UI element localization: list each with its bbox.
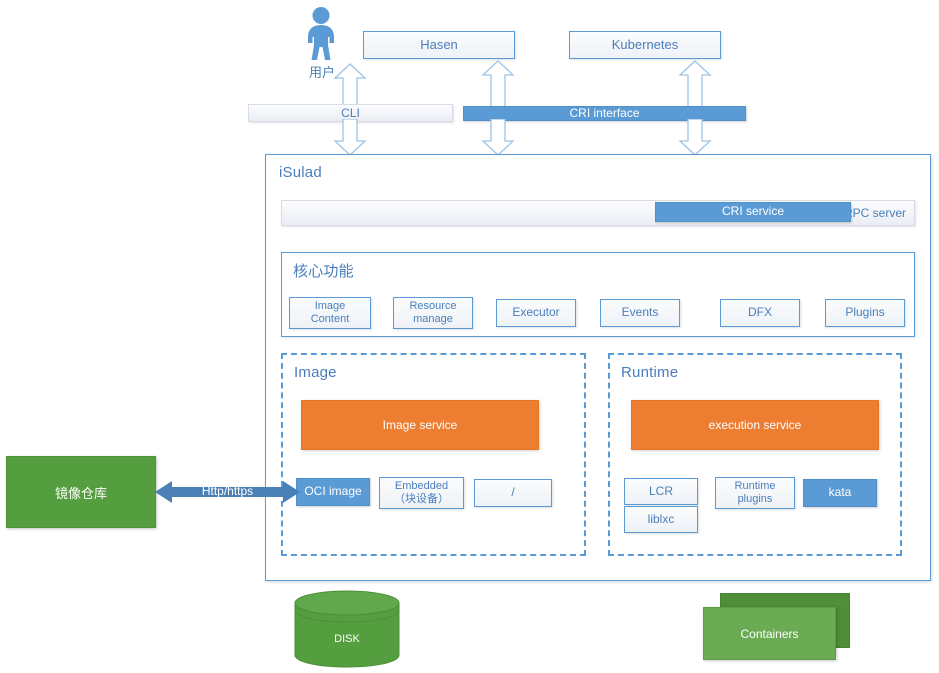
runtime-section-title: Runtime — [621, 364, 678, 381]
arrow-up-user-cli — [331, 62, 369, 107]
image-backend-slash[interactable]: / — [474, 479, 552, 507]
arrow-down-icon — [479, 119, 517, 157]
user-icon — [299, 6, 343, 62]
disk-label: DISK — [293, 633, 401, 645]
execution-service-box[interactable]: execution service — [631, 400, 879, 450]
core-module-line1: Resource — [409, 300, 456, 313]
arrow-down-cli-isulad — [331, 119, 369, 157]
arrow-up-hasen-cri — [479, 59, 517, 107]
image-backend-embedded[interactable]: Embedded （块设备） — [379, 477, 464, 509]
runtime-box-liblxc[interactable]: liblxc — [624, 506, 698, 533]
arrow-down-icon — [331, 119, 369, 157]
arrow-down-cri-isulad-right — [676, 119, 714, 157]
arrow-up-icon — [676, 59, 714, 107]
cri-service-box[interactable]: CRI service — [655, 202, 851, 222]
arrow-up-kubernetes-cri — [676, 59, 714, 107]
image-backend-line2: （块设备） — [394, 493, 449, 506]
core-module-plugins[interactable]: Plugins — [825, 299, 905, 327]
core-module-line1: Image — [315, 300, 346, 313]
runtime-box-runtime-plugins[interactable]: Runtime plugins — [715, 477, 795, 509]
arrow-down-cri-isulad-left — [479, 119, 517, 157]
core-module-events[interactable]: Events — [600, 299, 680, 327]
core-module-image-content[interactable]: Image Content — [289, 297, 371, 329]
disk-shape — [293, 590, 401, 668]
arrow-down-icon — [676, 119, 714, 157]
core-module-executor[interactable]: Executor — [496, 299, 576, 327]
core-module-line2: Content — [311, 313, 350, 326]
isulad-title: iSulad — [279, 164, 322, 181]
core-module-line2: manage — [413, 313, 453, 326]
core-functions-title: 核心功能 — [293, 260, 354, 281]
image-section-title: Image — [294, 364, 337, 381]
runtime-box-lcr[interactable]: LCR — [624, 478, 698, 505]
client-box-hasen[interactable]: Hasen — [363, 31, 515, 59]
runtime-box-line1: Runtime — [735, 480, 776, 493]
arrow-up-icon — [331, 62, 369, 107]
core-functions-panel: 核心功能 — [281, 252, 915, 337]
runtime-box-kata[interactable]: kata — [803, 479, 877, 507]
image-backend-oci-image[interactable]: OCI image — [296, 478, 370, 506]
core-module-dfx[interactable]: DFX — [720, 299, 800, 327]
client-box-kubernetes[interactable]: Kubernetes — [569, 31, 721, 59]
image-service-box[interactable]: Image service — [301, 400, 539, 450]
http-https-label: Http/https — [155, 484, 300, 498]
arrow-up-icon — [479, 59, 517, 107]
image-registry-box[interactable]: 镜像仓库 — [6, 456, 156, 528]
image-section-panel: Image — [281, 353, 586, 556]
person-icon-svg — [299, 6, 343, 62]
containers-box-front[interactable]: Containers — [703, 607, 836, 660]
runtime-box-line2: plugins — [738, 493, 773, 506]
cylinder-icon — [293, 590, 401, 668]
core-module-resource-manage[interactable]: Resource manage — [393, 297, 473, 329]
